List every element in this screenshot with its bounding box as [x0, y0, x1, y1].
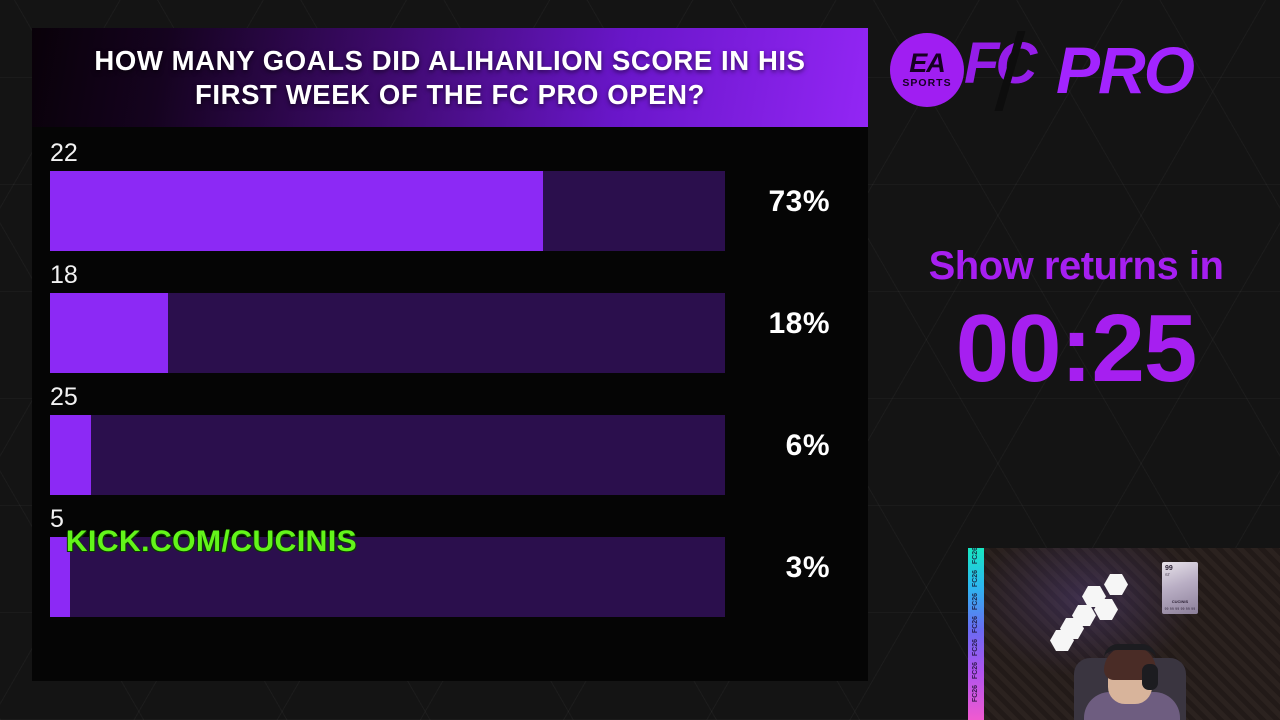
poll-bar-fill [50, 293, 168, 373]
poll-header: HOW MANY GOALS DID ALIHANLION SCORE IN H… [32, 28, 868, 127]
fc26-strip-label: FC26 [973, 639, 980, 656]
poll-percent-label: 3% [786, 551, 830, 585]
poll-option-label: 18 [50, 263, 78, 288]
ea-badge-mark: EA [909, 51, 945, 75]
poll-bar-track [50, 293, 725, 373]
poll-percent-label: 6% [786, 429, 830, 463]
countdown-timer: Show returns in 00:25 [872, 244, 1280, 397]
fc-mark-icon: FC [958, 29, 1050, 111]
headphones-band-icon [1104, 644, 1156, 658]
poll-option-label: 22 [50, 141, 78, 166]
timer-value: 00:25 [872, 301, 1280, 397]
fc26-strip-label: FC26 [973, 685, 980, 702]
poll-option-row[interactable]: 22 73% [32, 141, 868, 263]
poll-percent-label: 18% [768, 307, 830, 341]
fc26-strip-label: FC26 [973, 548, 980, 564]
fc26-strip-label: FC26 [973, 662, 980, 679]
poll-percent-label: 73% [768, 185, 830, 219]
timer-caption: Show returns in [872, 244, 1280, 289]
ea-sports-badge-icon: EA SPORTS [890, 33, 964, 107]
poll-option-row[interactable]: 18 18% [32, 263, 868, 385]
player-card-name: CUCINIS [1162, 599, 1198, 604]
poll-bar-track [50, 415, 725, 495]
player-card-position: ST [1165, 572, 1195, 577]
poll-option-label: 25 [50, 385, 78, 410]
player-card-stats: 99 99 99 99 99 99 [1162, 607, 1198, 611]
webcam-video-feed: 99 ST CUCINIS 99 99 99 99 99 99 [984, 548, 1280, 720]
fc26-strip-label: FC26 [973, 570, 980, 587]
pro-wordmark: PRO [1056, 37, 1193, 103]
poll-option-row[interactable]: 25 6% [32, 385, 868, 507]
headphone-cup-icon [1142, 664, 1158, 690]
ea-badge-sports-text: SPORTS [902, 77, 951, 89]
player-card-rating: 99 [1165, 565, 1195, 572]
player-card-icon: 99 ST CUCINIS 99 99 99 99 99 99 [1162, 562, 1198, 614]
poll-panel: HOW MANY GOALS DID ALIHANLION SCORE IN H… [32, 28, 868, 681]
poll-bar-fill [50, 171, 543, 251]
poll-question: HOW MANY GOALS DID ALIHANLION SCORE IN H… [56, 44, 844, 111]
webcam-overlay[interactable]: FC26 FC26 FC26 FC26 FC26 FC26 FC26 99 ST… [968, 548, 1280, 720]
fc26-strip-label: FC26 [973, 593, 980, 610]
kick-url-banner: KICK.COM/CUCINIS [15, 525, 408, 559]
fc-mark-text: FC [964, 35, 1033, 93]
fc26-strip-label: FC26 [973, 616, 980, 633]
ea-fc-pro-logo: EA SPORTS FC PRO [890, 24, 1270, 116]
poll-bar-track [50, 171, 725, 251]
streamer-avatar [1066, 634, 1194, 720]
poll-bar-fill [50, 415, 91, 495]
fc26-gradient-strip: FC26 FC26 FC26 FC26 FC26 FC26 FC26 [968, 548, 984, 720]
